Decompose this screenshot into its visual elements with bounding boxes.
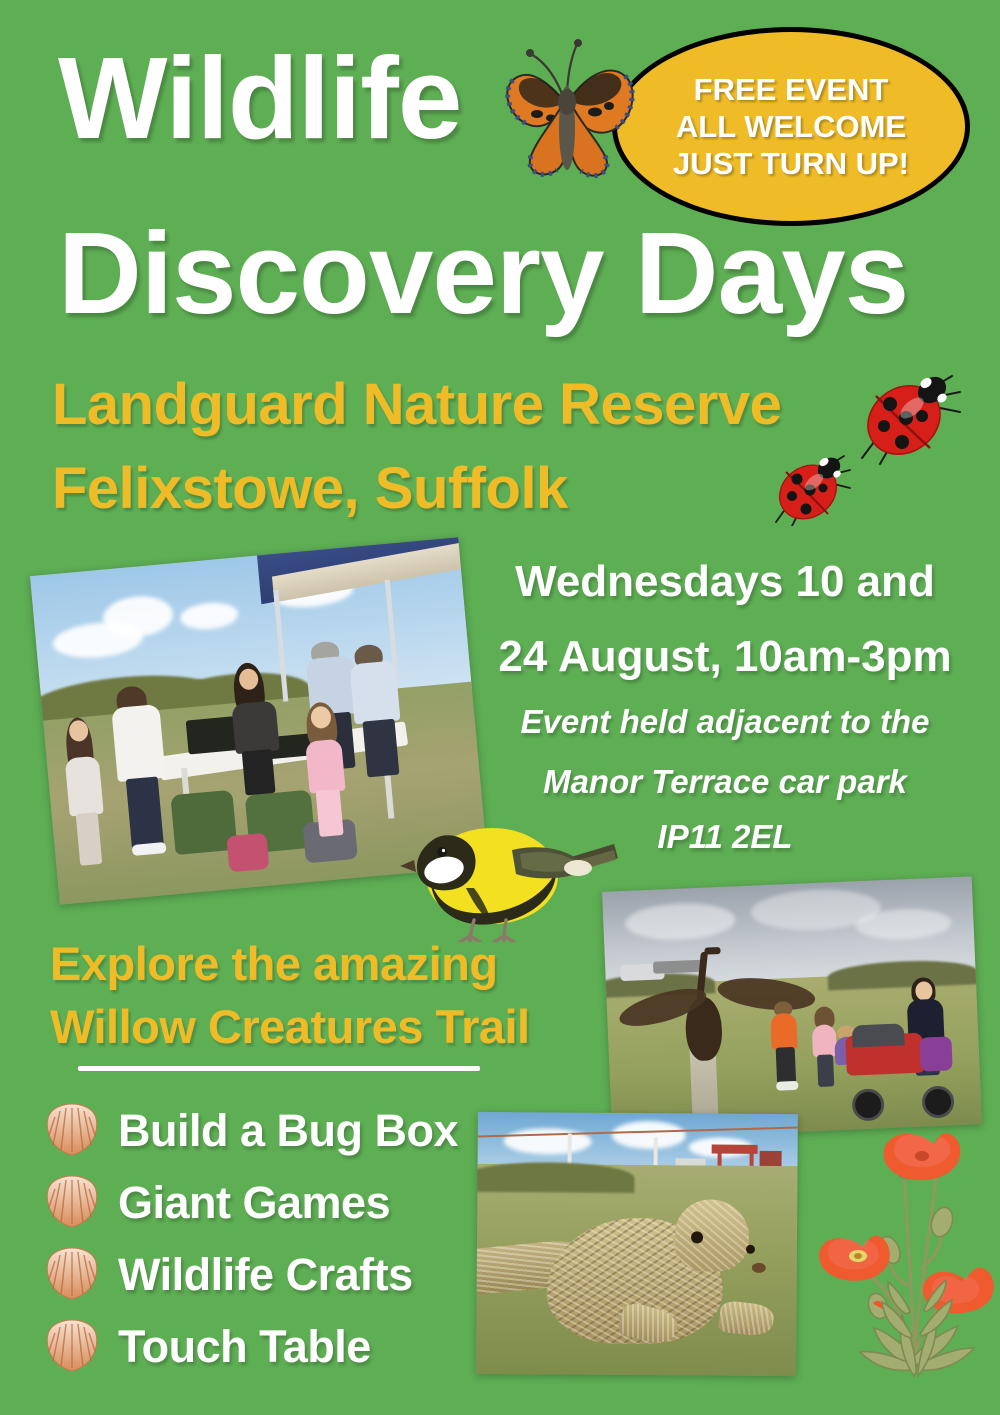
scallop-shell-icon [44,1176,100,1228]
location-line-2: Felixstowe, Suffolk [52,460,568,518]
location-line-1: Landguard Nature Reserve [52,376,781,434]
great-tit-icon [400,802,620,942]
activity-label: Build a Bug Box [118,1108,458,1153]
wildlife-discovery-days-poster: Wildlife Discovery Days FREE EVENT ALL W… [0,0,1000,1415]
trail-heading-line-1: Explore the amazing [50,940,498,987]
ladybird-icon [770,450,852,526]
activity-label: Giant Games [118,1180,390,1225]
butterfly-icon [487,28,647,193]
scallop-shell-icon [44,1320,100,1372]
list-item: Giant Games [44,1166,458,1238]
venue-note-line-1: Event held adjacent to the [470,705,980,738]
trail-heading-line-2: Willow Creatures Trail [50,1003,530,1050]
activity-label: Touch Table [118,1324,371,1369]
list-item: Wildlife Crafts [44,1238,458,1310]
badge-line-just-turn-up: JUST TURN UP! [673,148,909,179]
free-event-badge: FREE EVENT ALL WELCOME JUST TURN UP! [612,27,970,226]
poppy-icon [818,1108,1000,1378]
scallop-shell-icon [44,1104,100,1156]
page-title-line-2: Discovery Days [58,215,908,331]
photo-willow-cormorant [602,876,982,1139]
activity-list: Build a Bug Box Giant Games [44,1094,458,1382]
ladybird-icon [854,368,962,466]
event-dates-line-2: 24 August, 10am-3pm [470,635,980,679]
photo-willow-seal [476,1112,798,1376]
badge-line-all-welcome: ALL WELCOME [676,111,906,142]
list-item: Build a Bug Box [44,1094,458,1166]
venue-note-line-2: Manor Terrace car park [470,765,980,798]
list-item: Touch Table [44,1310,458,1382]
section-divider [78,1066,480,1071]
event-dates-line-1: Wednesdays 10 and [470,560,980,604]
activity-label: Wildlife Crafts [118,1252,413,1297]
page-title-line-1: Wildlife [58,40,461,156]
badge-line-free-event: FREE EVENT [694,74,889,105]
scallop-shell-icon [44,1248,100,1300]
